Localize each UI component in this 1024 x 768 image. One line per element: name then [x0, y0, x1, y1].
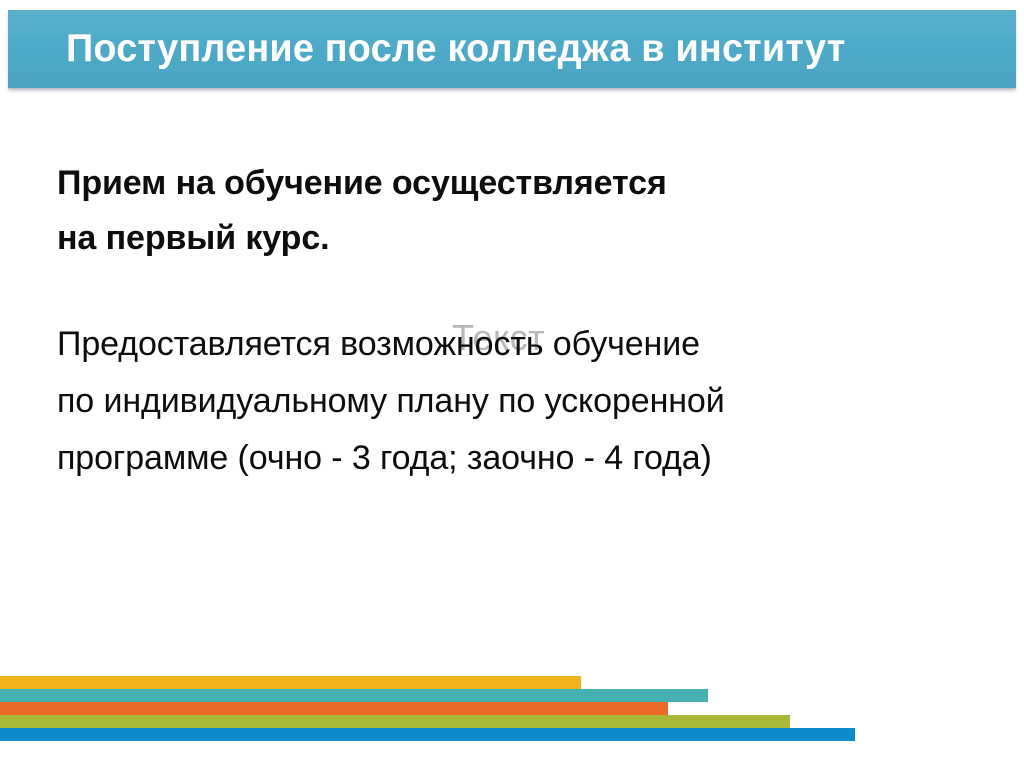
paragraph-line: по индивидуальному плану по ускоренной	[57, 373, 957, 430]
decoration-bar-yellow	[0, 676, 581, 689]
paragraph-line: Предоставляется возможность обучение	[57, 316, 957, 373]
decoration-bar-olive	[0, 715, 790, 728]
decoration-bar-orange	[0, 702, 668, 715]
title-banner-shadow	[8, 88, 1016, 93]
slide-body: Текст Прием на обучение осуществляется н…	[0, 130, 1024, 550]
slide-title: Поступление после колледжа в институт	[66, 27, 845, 71]
decoration-bar-teal	[0, 689, 708, 702]
paragraph-line: программе (очно - 3 года; заочно - 4 год…	[57, 430, 957, 487]
body-paragraph-primary: Прием на обучение осуществляется на перв…	[57, 156, 957, 266]
slide-canvas: Поступление после колледжа в институт Те…	[0, 0, 1024, 768]
paragraph-line: Прием на обучение осуществляется	[57, 156, 957, 211]
body-paragraph-secondary: Предоставляется возможность обучение по …	[57, 316, 957, 487]
slide-title-banner: Поступление после колледжа в институт	[8, 10, 1016, 88]
footer-decoration-bars	[0, 676, 1024, 742]
paragraph-line: на первый курс.	[57, 211, 957, 266]
decoration-bar-blue	[0, 728, 855, 741]
